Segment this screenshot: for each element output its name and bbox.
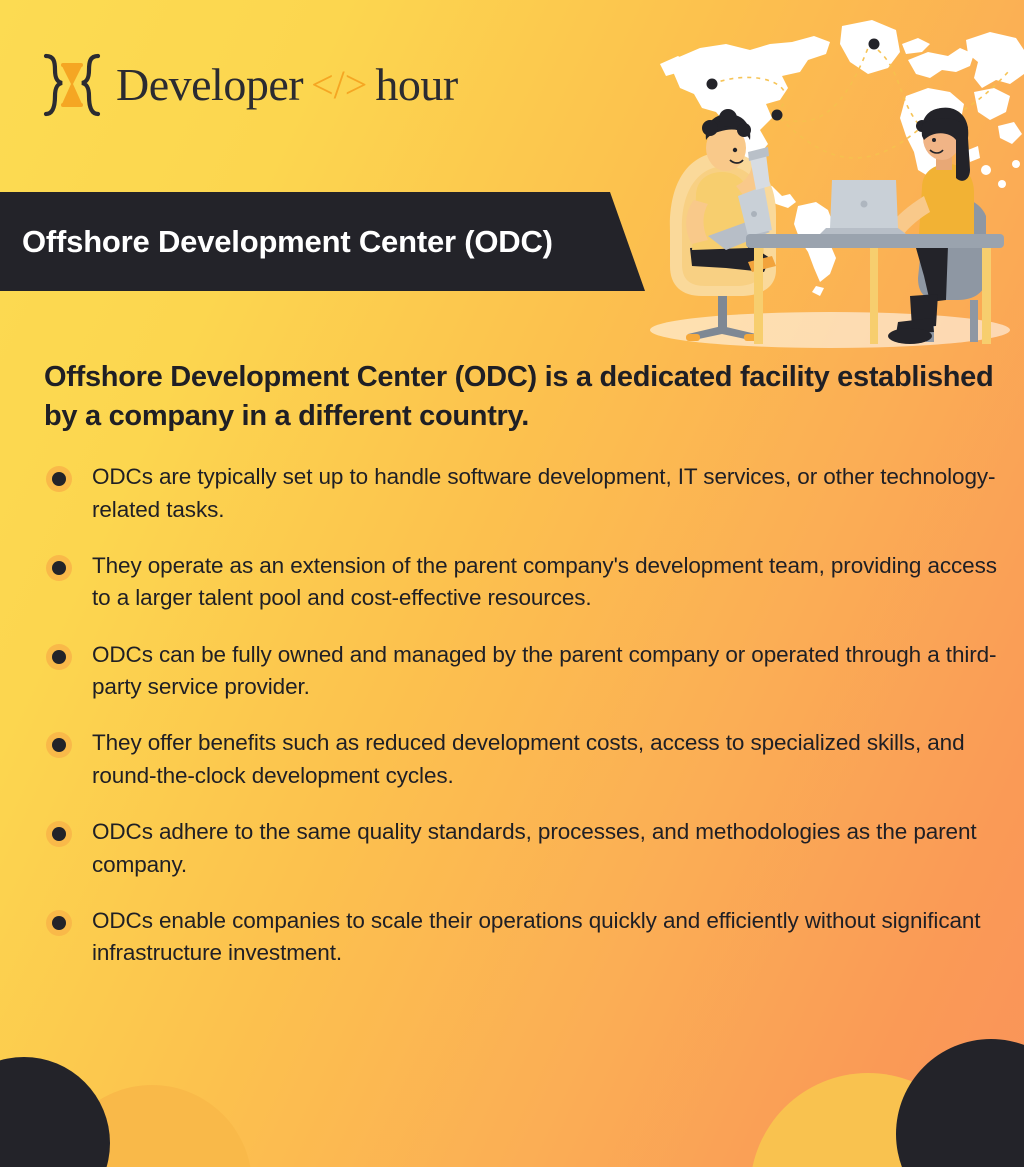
lead-paragraph: Offshore Development Center (ODC) is a d… (44, 358, 1006, 435)
bullet-dot-icon (46, 644, 72, 670)
list-item: ODCs adhere to the same quality standard… (44, 816, 1006, 881)
main-content: Offshore Development Center (ODC) is a d… (44, 358, 1006, 970)
logo-word-developer: Developer (116, 62, 303, 108)
list-item: They offer benefits such as reduced deve… (44, 727, 1006, 792)
corner-blob-light-left (52, 1085, 252, 1167)
remote-team-world-map-illustration (630, 0, 1024, 350)
bullet-dot-icon (46, 821, 72, 847)
list-item-text: They offer benefits such as reduced deve… (92, 730, 965, 787)
logo-word-hour: hour (375, 62, 457, 108)
brand-logo[interactable]: Developer </> hour (40, 52, 458, 118)
list-item-text: ODCs can be fully owned and managed by t… (92, 642, 996, 699)
banner-title: Offshore Development Center (ODC) (22, 224, 553, 260)
corner-blob-light-right (750, 1073, 986, 1167)
list-item-text: ODCs are typically set up to handle soft… (92, 464, 995, 521)
bullet-dot-icon (46, 910, 72, 936)
code-tag-icon: </> (311, 65, 367, 105)
woman-at-desk-with-laptop (746, 108, 1004, 344)
floor-shadow (650, 312, 1010, 348)
hourglass-braces-icon (40, 52, 104, 118)
bullet-dot-icon (46, 555, 72, 581)
list-item-text: ODCs adhere to the same quality standard… (92, 819, 977, 876)
infographic-poster: Developer </> hour Offshore Development … (0, 0, 1024, 1167)
bullet-dot-icon (46, 466, 72, 492)
list-item: They operate as an extension of the pare… (44, 550, 1006, 615)
bullet-dot-icon (46, 732, 72, 758)
list-item-text: They operate as an extension of the pare… (92, 553, 997, 610)
bullet-list: ODCs are typically set up to handle soft… (44, 461, 1006, 970)
list-item: ODCs can be fully owned and managed by t… (44, 639, 1006, 704)
list-item: ODCs are typically set up to handle soft… (44, 461, 1006, 526)
list-item-text: ODCs enable companies to scale their ope… (92, 908, 980, 965)
list-item: ODCs enable companies to scale their ope… (44, 905, 1006, 970)
title-banner: Offshore Development Center (ODC) (0, 192, 648, 291)
corner-blob-dark-left (0, 1057, 110, 1167)
corner-blob-dark-right (896, 1039, 1024, 1167)
